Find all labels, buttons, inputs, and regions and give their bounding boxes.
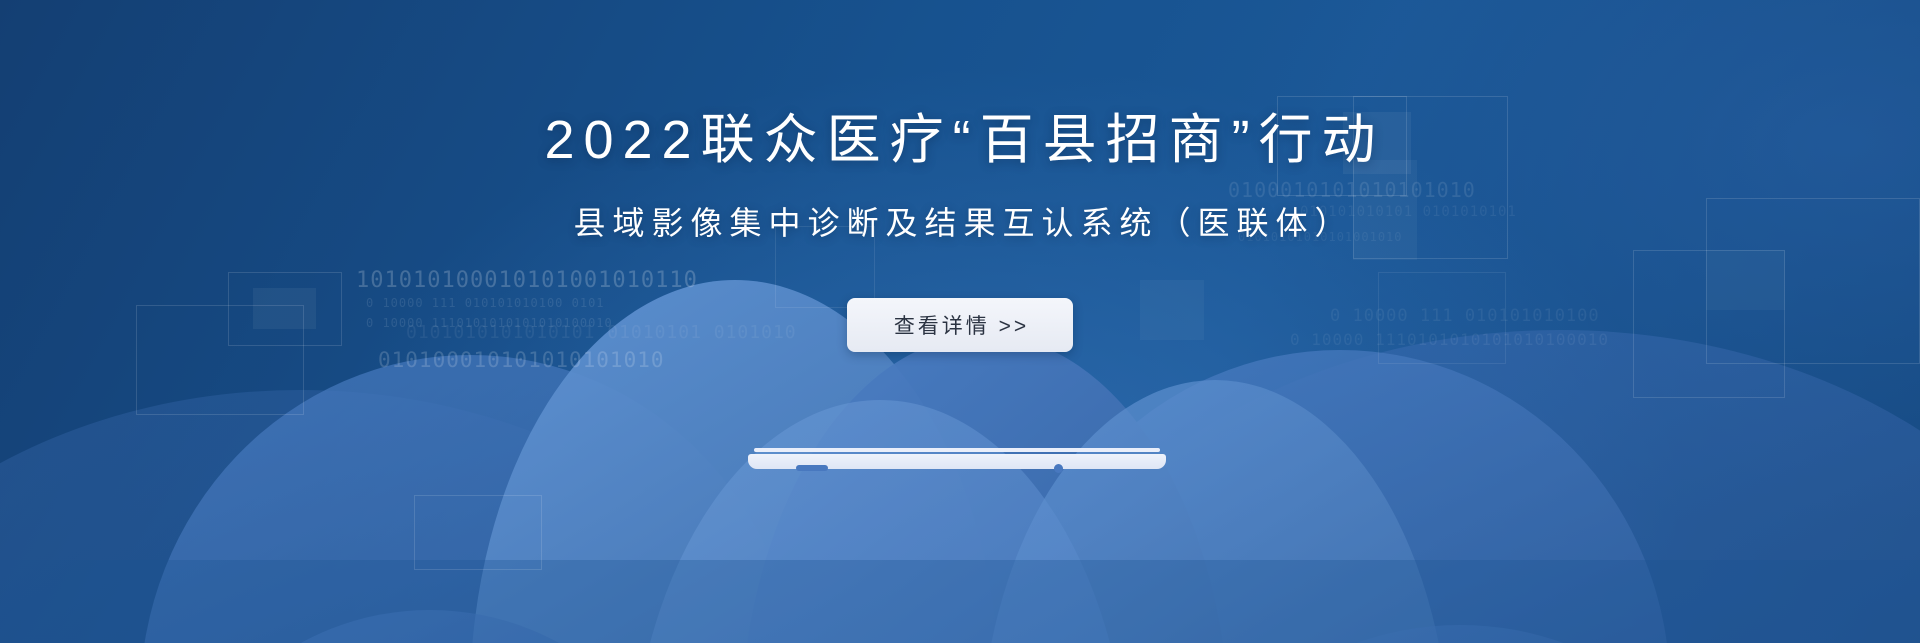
banner-content: 2022联众医疗“百县招商”行动 县域影像集中诊断及结果互认系统（医联体） 查看…: [0, 0, 1920, 643]
device-indicator-dot-icon: [1054, 464, 1063, 473]
promo-banner: 101010100010101001010110 0 10000 111 010…: [0, 0, 1920, 643]
page-title: 2022联众医疗“百县招商”行动: [535, 112, 1384, 169]
device-base: [748, 454, 1166, 469]
cta-container: 查看详情 >>: [847, 298, 1073, 352]
device-screen-edge: [754, 448, 1160, 452]
device-touchpad-icon: [796, 465, 828, 471]
page-subtitle: 县域影像集中诊断及结果互认系统（医联体）: [566, 198, 1353, 244]
view-details-button[interactable]: 查看详情 >>: [847, 298, 1073, 352]
laptop-device: [748, 448, 1166, 472]
